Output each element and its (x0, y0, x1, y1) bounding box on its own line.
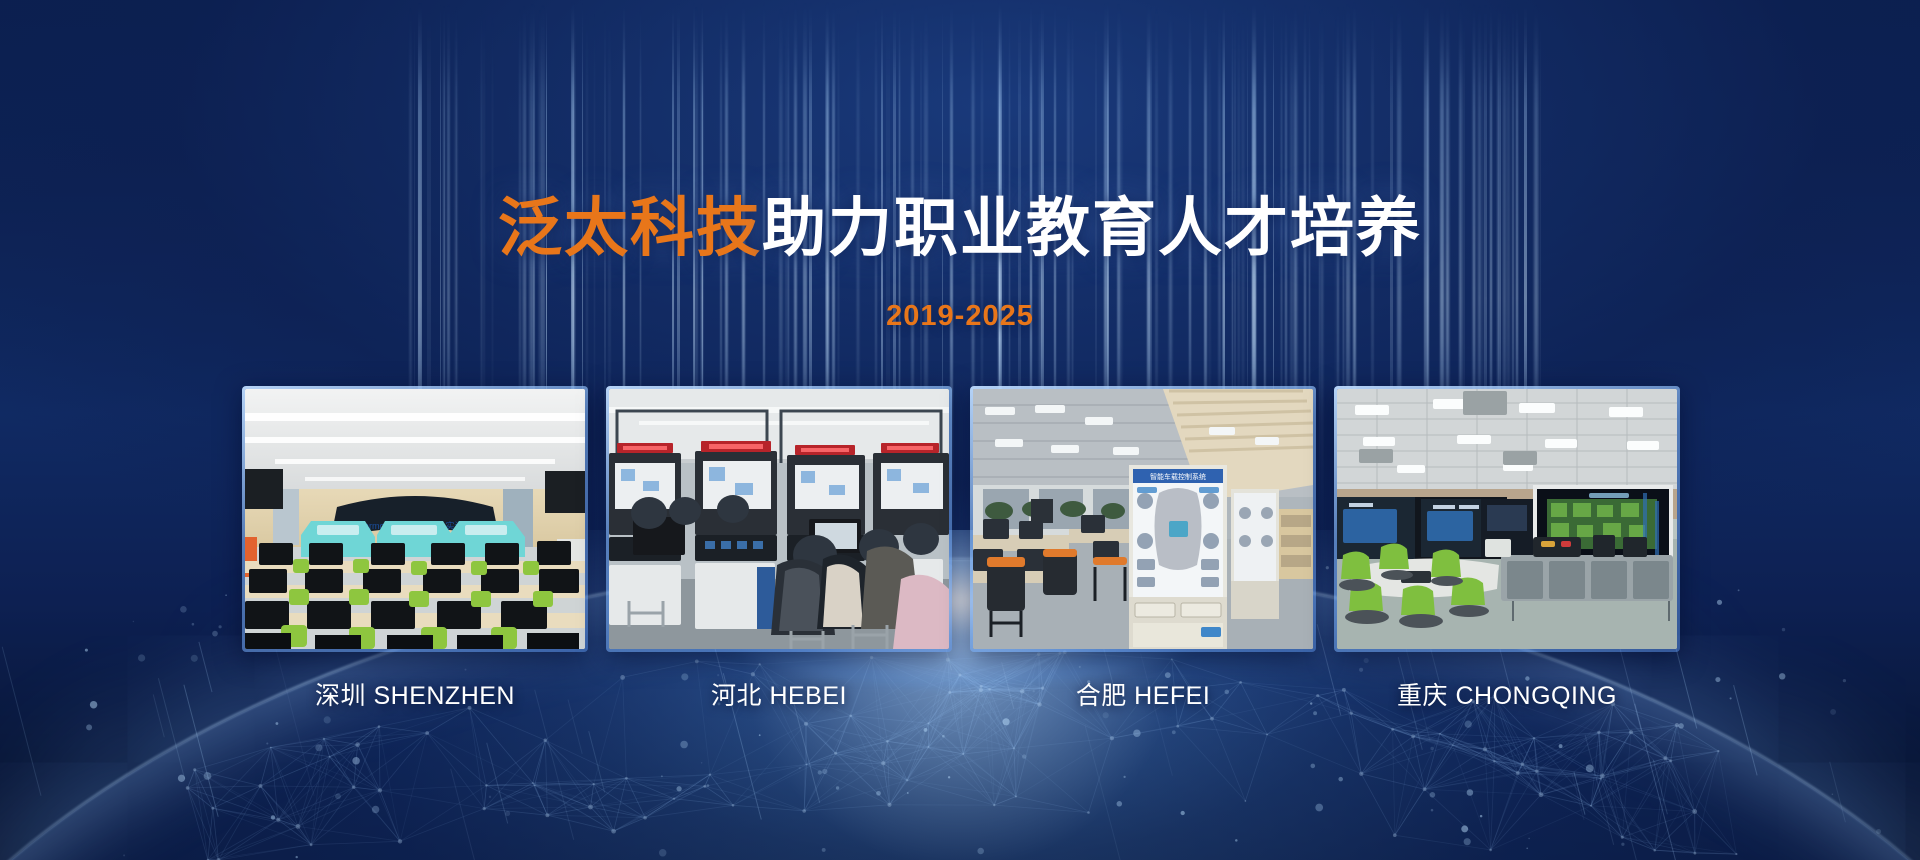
title-rest: 助力职业教育人才培养 (762, 192, 1422, 264)
svg-text:智能车载控制系统: 智能车载控制系统 (1150, 472, 1206, 481)
photo-hebei (609, 389, 949, 649)
page-title: 泛太科技助力职业教育人才培养 (0, 196, 1920, 260)
hero-banner: 泛太科技助力职业教育人才培养 2019-2025 (0, 0, 1920, 860)
gallery-captions: 深圳 SHENZHEN 河北 HEBEI 合肥 HEFEI 重庆 CHONGQI… (242, 676, 1678, 716)
gallery-item[interactable]: HarmonyOS 智能座舱实训室 (242, 386, 588, 652)
photo-frame (606, 386, 952, 652)
photo-frame: HarmonyOS 智能座舱实训室 (242, 386, 588, 652)
caption-hefei: 合肥 HEFEI (970, 676, 1316, 716)
photo-frame: 智能车载控制系统 (970, 386, 1316, 652)
gallery-item[interactable] (606, 386, 952, 652)
gallery-item[interactable] (1334, 386, 1680, 652)
brand-name: 泛太科技 (498, 192, 762, 264)
photo-shenzhen: HarmonyOS 智能座舱实训室 (245, 389, 585, 649)
caption-chongqing: 重庆 CHONGQING (1334, 676, 1680, 716)
caption-shenzhen: 深圳 SHENZHEN (242, 676, 588, 716)
caption-hebei: 河北 HEBEI (606, 676, 952, 716)
page-subtitle: 2019-2025 (0, 300, 1920, 333)
facility-gallery: HarmonyOS 智能座舱实训室 (242, 386, 1678, 656)
photo-chongqing (1337, 389, 1677, 649)
photo-frame (1334, 386, 1680, 652)
photo-hefei: 智能车载控制系统 (973, 389, 1313, 649)
gallery-item[interactable]: 智能车载控制系统 (970, 386, 1316, 652)
